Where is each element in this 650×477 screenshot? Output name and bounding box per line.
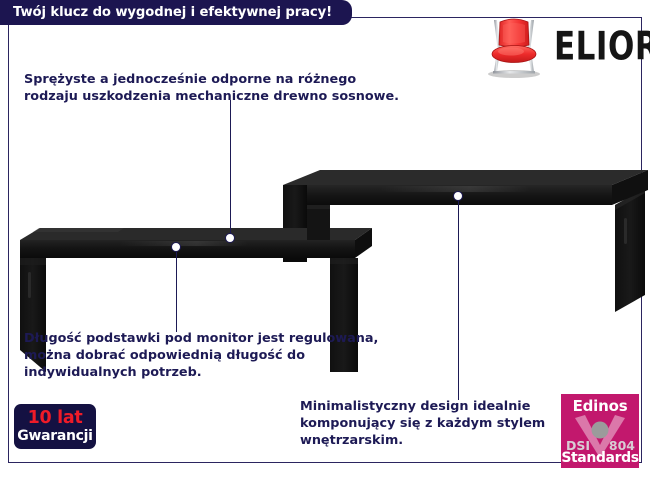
callout-text-length: Długość podstawki pod monitor jest regul… — [24, 330, 444, 381]
warranty-label: Gwarancji — [17, 429, 92, 443]
header-banner-text: Twój klucz do wygodnej i efektywnej prac… — [13, 5, 332, 20]
leader-line-length — [176, 252, 177, 332]
warranty-years: 10 lat — [28, 410, 83, 428]
red-chair-icon — [478, 14, 550, 80]
product-infographic: Twój klucz do wygodnej i efektywnej prac… — [0, 0, 650, 477]
brand-name: ELIOR — [554, 28, 650, 67]
edinos-brand: Edinos — [561, 397, 639, 415]
header-banner: Twój klucz do wygodnej i efektywnej prac… — [0, 0, 352, 25]
callout-dot-length[interactable] — [171, 242, 181, 252]
callout-text-wood: Sprężyste a jednocześnie odporne na różn… — [24, 71, 444, 105]
brand-logo: ELIOR — [478, 14, 640, 80]
leader-line-wood — [230, 100, 231, 238]
callout-text-design: Minimalistyczny design idealnie komponuj… — [300, 398, 590, 449]
edinos-standards-label: Standards — [561, 450, 639, 466]
callout-dot-wood[interactable] — [225, 233, 235, 243]
warranty-badge: 10 lat Gwarancji — [14, 404, 96, 449]
leader-line-design — [458, 201, 459, 400]
edinos-standards-badge: Edinos DSI 804 Standards — [561, 394, 639, 468]
callout-dot-design[interactable] — [453, 191, 463, 201]
